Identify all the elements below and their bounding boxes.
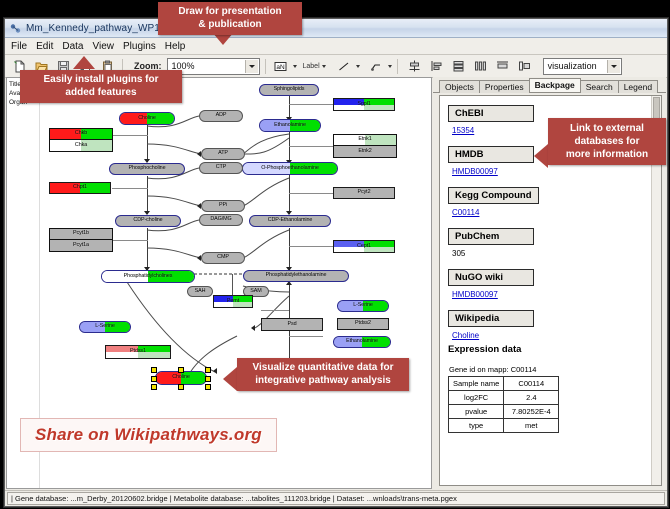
callout-links-pointer [534, 144, 548, 168]
tab-search[interactable]: Search [580, 80, 619, 93]
node-ppi[interactable]: PPi [201, 200, 245, 212]
gene-label: Chka [75, 143, 87, 148]
node-label: SAH [195, 289, 206, 294]
callout-visualize: Visualize quantitative data for integrat… [237, 358, 409, 391]
edge-choline-phosphocholine [147, 124, 148, 162]
node-label: CTP [216, 165, 226, 170]
node-ctp[interactable]: CTP [199, 162, 243, 174]
node-label: Phosphatidylethanolamine [266, 273, 327, 278]
pathvisio-icon [10, 23, 21, 34]
toolbar-separator-2 [265, 59, 266, 74]
interaction-dropdown[interactable] [366, 56, 392, 76]
node-label: Ethanolamine [346, 339, 378, 344]
gene-label: Pemt [227, 299, 239, 304]
db-header-chebi: ChEBI [448, 105, 534, 122]
tab-legend[interactable]: Legend [618, 80, 658, 93]
arrow-icon [251, 325, 255, 331]
menu-edit[interactable]: Edit [36, 41, 59, 52]
status-bar: | Gene database: ...m_Derby_20120602.bri… [5, 490, 667, 506]
callout-draw: Draw for presentation & publication [158, 2, 302, 35]
node-label: ADP [216, 113, 227, 118]
gene-label: Chkb [75, 131, 87, 136]
gene-chpt1[interactable]: Chpt1 [49, 182, 111, 194]
gene-cept1[interactable]: Cept1 [333, 240, 395, 253]
gene-label: Ptdss1 [130, 349, 146, 354]
stack-icon[interactable] [449, 56, 469, 76]
node-lserine-left[interactable]: L-Serine [79, 321, 131, 333]
node-lserine-right[interactable]: L-Serine [337, 300, 389, 312]
datanode-icon[interactable]: aN [271, 56, 291, 76]
arrow-icon [213, 368, 217, 374]
expression-data-heading: Expression data [448, 344, 661, 355]
gene-chkb[interactable]: Chkb [50, 129, 112, 140]
db-header-nugo: NuGO wiki [448, 269, 534, 286]
visualization-value: visualization [548, 61, 597, 71]
node-label: DAG/MG [210, 217, 231, 222]
edge-etnk-link [289, 146, 333, 147]
node-adp[interactable]: ADP [199, 110, 243, 122]
node-sah[interactable]: SAH [187, 286, 213, 297]
datanode-dropdown[interactable]: aN [271, 56, 297, 76]
menu-data[interactable]: Data [62, 41, 89, 52]
edge-pemt-link [232, 274, 233, 296]
table-cell: 7.80252E-4 [504, 405, 559, 419]
table-cell: pvalue [449, 405, 504, 419]
gene-label: Cept1 [357, 244, 371, 249]
expression-table: Sample name C00114 log2FC 2.4 pvalue 7.8… [448, 376, 559, 433]
db-link-wikipedia[interactable]: Choline [452, 331, 661, 340]
edge-psd-link [289, 336, 323, 337]
gene-sgpl1[interactable]: Sgpl1 [333, 98, 395, 111]
align-left-icon[interactable] [427, 56, 447, 76]
tab-objects[interactable]: Objects [439, 80, 480, 93]
node-ethanolamine-right[interactable]: Ethanolamine [333, 336, 391, 348]
node-label: Phosphatidylcholines [124, 274, 173, 279]
distribute-icon[interactable] [471, 56, 491, 76]
gene-group-pcyt[interactable]: Pcyt1b Pcyt1a [49, 228, 113, 252]
gene-label: Psd [288, 322, 297, 327]
gene-label: Pcyt1b [73, 231, 89, 236]
menu-bar: File Edit Data View Plugins Help [5, 38, 667, 55]
table-cell: met [504, 419, 559, 433]
edge-sgpl1-link [289, 104, 333, 105]
node-label: Choline [138, 116, 156, 121]
gene-psd[interactable]: Psd [261, 318, 323, 331]
edge-cdpcholine-ptdcholine [147, 228, 148, 270]
resize-handle[interactable] [178, 367, 184, 373]
table-row: type met [449, 419, 559, 433]
db-value-pubchem: 305 [452, 249, 661, 258]
interaction-icon[interactable] [366, 56, 386, 76]
node-cdp-choline[interactable]: CDP-choline [115, 215, 181, 227]
table-cell: C00114 [504, 377, 559, 391]
table-row: pvalue 7.80252E-4 [449, 405, 559, 419]
resize-handle[interactable] [151, 367, 157, 373]
node-label: SAM [250, 289, 261, 294]
node-cmp[interactable]: CMP [201, 252, 245, 264]
node-label: Choline [172, 375, 190, 380]
table-row: log2FC 2.4 [449, 391, 559, 405]
node-label: Ethanolamine [274, 123, 306, 128]
line-icon[interactable] [334, 56, 354, 76]
gene-group-etnk[interactable]: Etnk1 Etnk2 [333, 134, 397, 158]
db-link-hmdb[interactable]: HMDB00097 [452, 167, 661, 176]
gene-label: Pcyt2 [358, 190, 371, 195]
gene-label: Etnk2 [358, 149, 371, 154]
toolbar-separator-3 [397, 59, 398, 74]
node-ethanolamine-top[interactable]: Ethanolamine [259, 119, 321, 132]
gene-label: Etnk1 [358, 137, 371, 142]
node-label: L-Serine [95, 324, 115, 329]
gene-chka[interactable]: Chka [50, 140, 112, 151]
share-banner: Share on Wikipathways.org [20, 418, 277, 452]
node-atp[interactable]: ATP [201, 148, 245, 160]
gene-ptdss1[interactable]: Ptdss1 [105, 345, 171, 359]
node-label: PPi [219, 203, 227, 208]
side-tabstrip: Objects Properties Backpage Search Legen… [433, 77, 666, 93]
edge-chk-link [112, 135, 148, 136]
chevron-down-icon[interactable] [245, 60, 258, 73]
resize-handle[interactable] [151, 384, 157, 390]
same-width-icon[interactable] [493, 56, 513, 76]
group-icon[interactable] [515, 56, 535, 76]
menu-plugins[interactable]: Plugins [123, 41, 162, 52]
node-phosphatidylcholines[interactable]: Phosphatidylcholines [101, 270, 195, 283]
edge-ptdss2-link [261, 310, 289, 311]
gene-label: Sgpl1 [357, 102, 370, 107]
label-button-text: Label [303, 63, 320, 70]
tab-properties[interactable]: Properties [479, 80, 530, 93]
node-sphingolipids[interactable]: Sphingolipids [259, 84, 319, 96]
table-cell: log2FC [449, 391, 504, 405]
gene-pcyt2[interactable]: Pcyt2 [333, 187, 395, 199]
line-dropdown[interactable] [334, 56, 360, 76]
gene-pemt[interactable]: Pemt [213, 295, 253, 308]
callout-visualize-pointer [223, 367, 237, 391]
resize-handle[interactable] [205, 384, 211, 390]
gene-etnk2[interactable]: Etnk2 [334, 146, 396, 157]
gene-label: Chpt1 [73, 185, 87, 190]
node-label: ATP [218, 151, 228, 156]
gene-id-line: Gene id on mapp: C00114 [449, 365, 661, 374]
node-phosphatidylethanolamine[interactable]: Phosphatidylethanolamine [243, 270, 349, 282]
node-o-phosphoethanolamine[interactable]: O-Phosphoethanolamine [242, 162, 338, 175]
edge-chpt1-link [112, 188, 148, 189]
gene-pcyt1a[interactable]: Pcyt1a [50, 240, 112, 251]
db-header-hmdb: HMDB [448, 146, 534, 163]
gene-etnk1[interactable]: Etnk1 [334, 135, 396, 146]
node-label: CDP-choline [133, 218, 162, 223]
node-phosphocholine[interactable]: Phosphocholine [109, 163, 185, 175]
gene-group-chk[interactable]: Chkb Chka [49, 128, 113, 152]
node-label: L-Serine [353, 303, 373, 308]
title-bar: Mm_Kennedy_pathway_WP1771_45176.gpml [5, 19, 667, 38]
node-label: O-Phosphoethanolamine [261, 166, 319, 171]
chevron-down-icon-2[interactable] [607, 60, 620, 73]
resize-handle[interactable] [205, 367, 211, 373]
edge-pcyt-link [112, 240, 148, 241]
gene-label: Pcyt1a [73, 243, 89, 248]
gene-ptdss2[interactable]: Ptdss2 [337, 318, 389, 330]
node-choline-selected[interactable]: Choline [155, 371, 207, 385]
resize-handle[interactable] [151, 376, 157, 382]
node-choline-top[interactable]: Choline [119, 112, 175, 125]
callout-links: Link to external databases for more info… [548, 118, 666, 165]
menu-help[interactable]: Help [165, 41, 192, 52]
node-label: Phosphocholine [129, 166, 166, 171]
db-link-nugo[interactable]: HMDB00097 [452, 290, 661, 299]
edge-ope-cdpetn [289, 174, 290, 214]
callout-plugins-pointer [73, 56, 95, 69]
callout-plugins: Easily install plugins for added feature… [20, 70, 182, 103]
menu-file[interactable]: File [11, 41, 33, 52]
node-label: CMP [217, 255, 229, 260]
node-label: CDP-Ethanolamine [268, 218, 313, 223]
node-cdp-ethanolamine[interactable]: CDP-Ethanolamine [249, 215, 331, 227]
db-header-pubchem: PubChem [448, 228, 534, 245]
table-cell: Sample name [449, 377, 504, 391]
edge-phosphocholine-cdpcholine [147, 176, 148, 214]
table-cell: type [449, 419, 504, 433]
table-cell: 2.4 [504, 391, 559, 405]
db-header-kegg: Kegg Compound [448, 187, 539, 204]
edge-cept1-link [289, 246, 333, 247]
menu-view[interactable]: View [92, 41, 120, 52]
resize-handle[interactable] [205, 376, 211, 382]
visualization-combo[interactable]: visualization [543, 58, 622, 75]
gene-pcyt1b[interactable]: Pcyt1b [50, 229, 112, 240]
resize-handle[interactable] [178, 384, 184, 390]
table-row: Sample name C00114 [449, 377, 559, 391]
db-header-wikipedia: Wikipedia [448, 310, 534, 327]
node-dagmg[interactable]: DAG/MG [199, 214, 243, 226]
edge-pcyt2-link [289, 193, 333, 194]
align-center-icon[interactable] [405, 56, 425, 76]
tab-backpage[interactable]: Backpage [529, 78, 581, 92]
status-text: | Gene database: ...m_Derby_20120602.bri… [7, 492, 665, 505]
label-dropdown[interactable]: Label [303, 63, 326, 70]
screenshot-root: Mm_Kennedy_pathway_WP1771_45176.gpml Fil… [0, 0, 670, 509]
svg-text:aN: aN [276, 63, 285, 70]
edge-cdpetn-pte [289, 228, 290, 270]
node-label: Sphingolipids [274, 87, 305, 92]
db-link-kegg[interactable]: C00114 [452, 208, 661, 217]
gene-label: Ptdss2 [355, 321, 371, 326]
edge-ethanolamine-ope [289, 131, 290, 163]
